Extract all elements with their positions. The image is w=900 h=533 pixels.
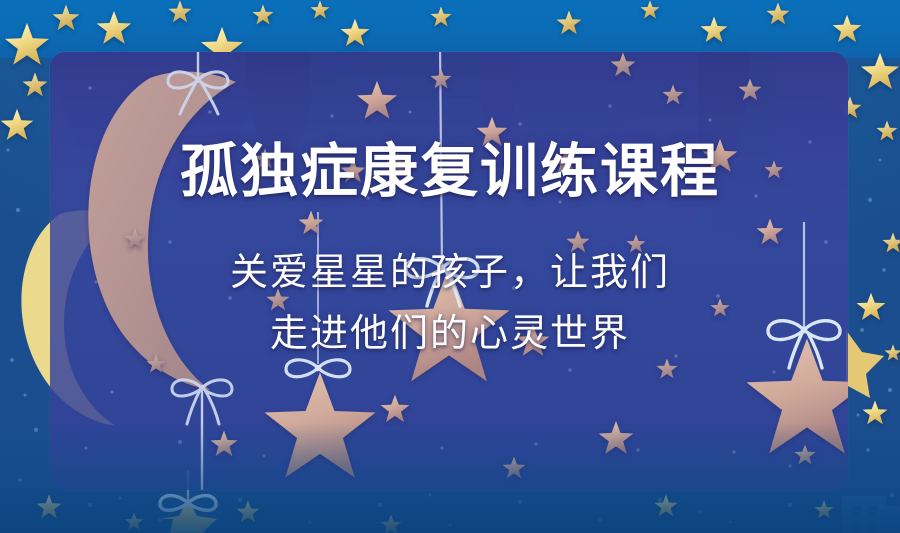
poster-subtitle-line-1: 关爱星星的孩子，让我们	[0, 243, 900, 305]
poster-canvas: 孤独症康复训练课程 关爱星星的孩子，让我们 走进他们的心灵世界	[0, 0, 900, 533]
poster-subtitle-line-2: 走进他们的心灵世界	[0, 304, 900, 366]
poster-text-block: 孤独症康复训练课程 关爱星星的孩子，让我们 走进他们的心灵世界	[0, 142, 900, 366]
poster-title: 孤独症康复训练课程	[0, 142, 900, 203]
bottom-vignette	[0, 423, 900, 533]
poster-subtitle: 关爱星星的孩子，让我们 走进他们的心灵世界	[0, 203, 900, 366]
